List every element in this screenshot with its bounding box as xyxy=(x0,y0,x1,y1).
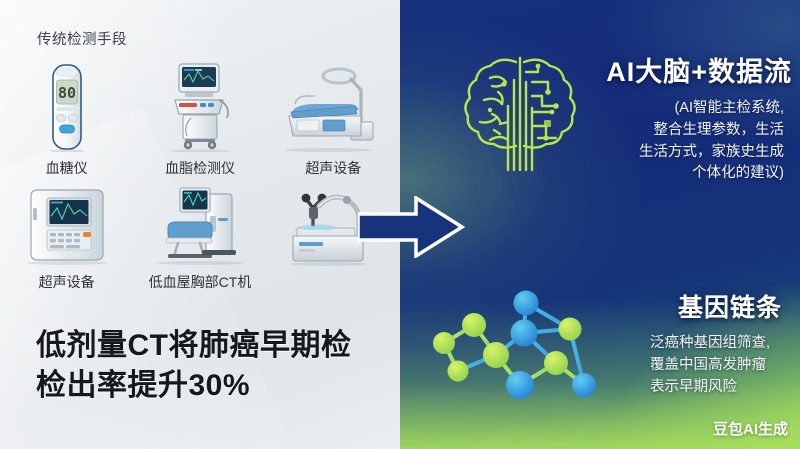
device-label: 超声设备 xyxy=(39,272,95,292)
device-row-2: 超声设备 xyxy=(0,186,400,292)
lipid-analyzer-icon xyxy=(155,60,245,152)
gene-section-title: 基因链条 xyxy=(678,288,782,324)
left-panel-traditional: 传统检测手段 80 xyxy=(0,0,400,449)
ai-body-line-2: 整合生理参数，生活 xyxy=(639,120,784,142)
gene-body-line-1: 泛癌种基因组筛查, xyxy=(650,333,770,355)
ai-body-line-4: 个体化的建议) xyxy=(639,163,784,185)
left-headline: 低剂量CT将肺癌早期检 检出率提升30% xyxy=(36,326,352,405)
headline-line-1: 低剂量CT将肺癌早期检 xyxy=(36,326,352,366)
device-item-ultrasound-bed: 超声设备 xyxy=(267,60,400,178)
ai-body-line-1: (AI智能主检系统, xyxy=(639,98,784,120)
device-label: 血糖仪 xyxy=(46,158,88,178)
svg-text:80: 80 xyxy=(58,84,76,102)
ai-section-title: AI大脑+数据流 xyxy=(606,50,792,89)
watermark-label: 豆包AI生成 xyxy=(713,418,788,439)
ct-scanner-icon xyxy=(144,186,256,266)
device-item-ultrasound-console: 超声设备 xyxy=(0,186,133,292)
gene-chain-icon xyxy=(418,285,608,420)
device-label: 低血屋胸部CT机 xyxy=(149,272,252,292)
device-item-lipid-analyzer: 血脂检测仪 xyxy=(133,60,266,178)
ultrasound-console-icon xyxy=(17,186,117,266)
transition-arrow-icon xyxy=(358,196,466,258)
panel-kicker-label: 传统检测手段 xyxy=(37,28,127,49)
gene-body-line-2: 覆盖中国高发肿瘤 xyxy=(650,355,770,377)
device-item-ct-scanner: 低血屋胸部CT机 xyxy=(133,186,266,292)
ai-body-line-3: 生活方式，家族史生成 xyxy=(639,142,784,164)
ultrasound-bed-icon xyxy=(277,60,389,152)
headline-line-2: 检出率提升30% xyxy=(36,366,352,406)
device-row-1: 80 血糖仪 xyxy=(0,60,400,178)
ai-brain-icon xyxy=(460,48,580,181)
ai-section-body: (AI智能主检系统, 整合生理参数，生活 生活方式，家族史生成 个体化的建议) xyxy=(639,98,784,185)
slide-canvas: 传统检测手段 80 xyxy=(0,0,800,449)
gene-section-body: 泛癌种基因组筛查, 覆盖中国高发肿瘤 表示早期风险 xyxy=(650,333,770,398)
glucose-meter-icon: 80 xyxy=(44,60,90,152)
gene-body-line-3: 表示早期风险 xyxy=(650,377,770,399)
device-item-glucose-meter: 80 血糖仪 xyxy=(0,60,133,178)
device-label: 超声设备 xyxy=(305,158,361,178)
device-label: 血脂检测仪 xyxy=(165,158,235,178)
